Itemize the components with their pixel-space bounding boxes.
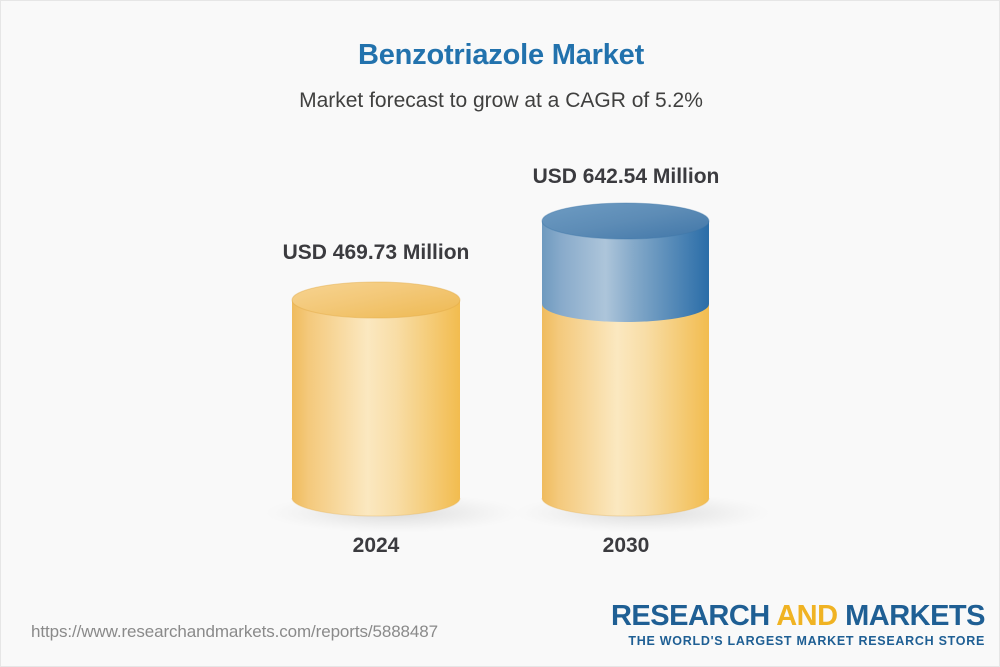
brand-tagline: THE WORLD'S LARGEST MARKET RESEARCH STOR… xyxy=(611,634,985,648)
report-url-link[interactable]: https://www.researchandmarkets.com/repor… xyxy=(31,622,438,642)
brand-word-markets: MARKETS xyxy=(838,600,985,632)
bar-cylinder-2024[interactable] xyxy=(292,282,460,516)
bar-cylinder-2030[interactable] xyxy=(542,203,709,516)
cylinder-gradient-defs xyxy=(1,1,1000,667)
brand-wordmark: RESEARCH AND MARKETS xyxy=(611,601,985,631)
infographic-canvas: Benzotriazole Market Market forecast to … xyxy=(0,0,1000,667)
brand-word-research: RESEARCH xyxy=(611,600,776,632)
brand-word-and: AND xyxy=(776,600,837,632)
bar-value-label-2024: USD 469.73 Million xyxy=(216,241,536,265)
brand-logo[interactable]: RESEARCH AND MARKETS THE WORLD'S LARGEST… xyxy=(611,601,985,648)
bar-value-label-2030: USD 642.54 Million xyxy=(466,165,786,189)
bar-category-label-2030: 2030 xyxy=(466,534,786,558)
chart-plot-area: USD 469.73 Million USD 642.54 Million 20… xyxy=(1,1,1000,667)
